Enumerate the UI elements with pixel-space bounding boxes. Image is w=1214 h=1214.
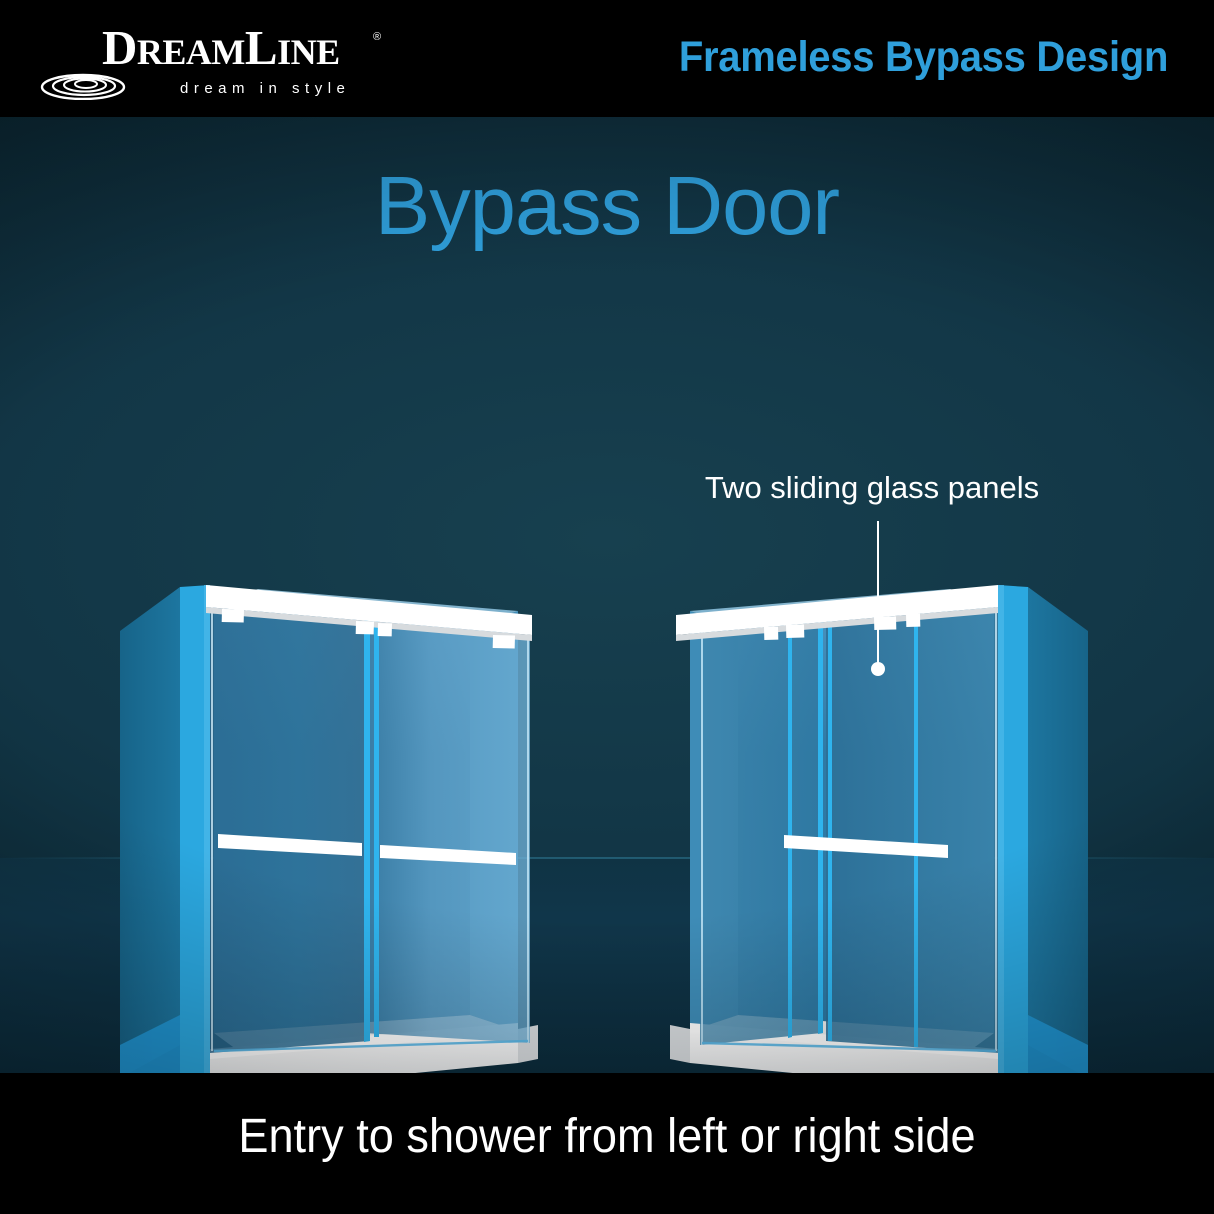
product-illustration-scene: Bypass Door bbox=[0, 117, 1214, 1073]
infographic-canvas: DREAMLINE ® dream in style Frameless Byp… bbox=[0, 0, 1214, 1214]
logo-letters-ine: INE bbox=[277, 32, 340, 72]
logo-tagline: dream in style bbox=[180, 80, 350, 97]
dreamline-wordmark: DREAMLINE bbox=[102, 22, 340, 78]
logo-letters-ream: REAM bbox=[137, 32, 245, 72]
footer-caption-bar: Entry to shower from left or right side bbox=[0, 1073, 1214, 1214]
brand-header-bar: DREAMLINE ® dream in style Frameless Byp… bbox=[0, 0, 1214, 117]
header-headline: Frameless Bypass Design bbox=[679, 26, 1168, 88]
dreamline-logo: DREAMLINE ® dream in style bbox=[40, 18, 370, 102]
footer-caption: Entry to shower from left or right side bbox=[36, 1107, 1177, 1167]
scene-vignette bbox=[0, 117, 1214, 1073]
logo-letter-l: L bbox=[245, 20, 277, 75]
logo-letter-d: D bbox=[102, 20, 137, 75]
registered-trademark-icon: ® bbox=[373, 32, 381, 43]
